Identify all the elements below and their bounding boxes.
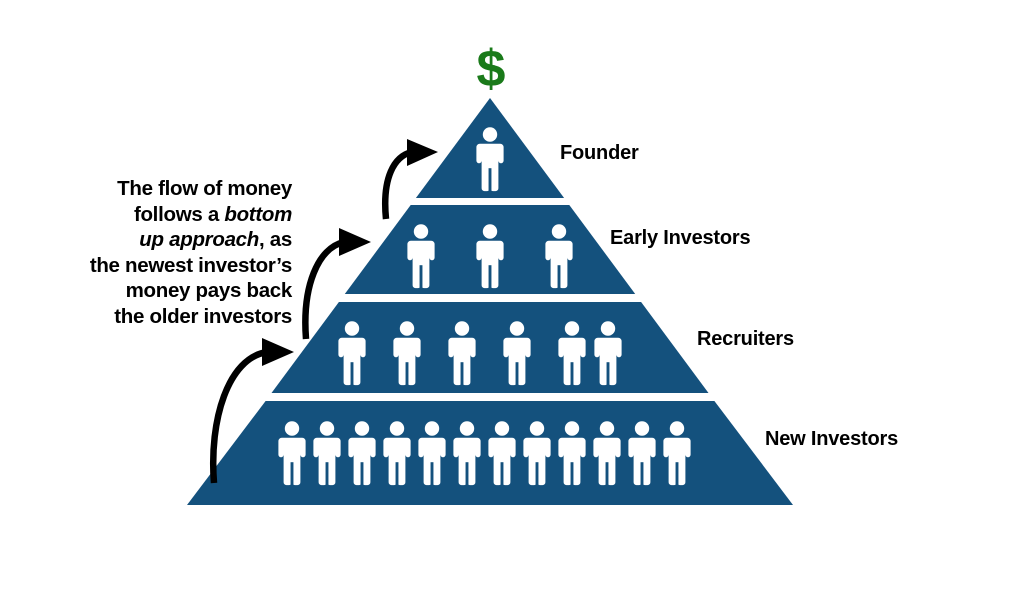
annotation-emphasis-bottom: bottom <box>224 203 292 226</box>
annotation-line-6: the older investors <box>114 305 292 328</box>
tier-label-early-investors: Early Investors <box>610 227 750 250</box>
annotation-line-1: The flow of money <box>117 177 292 200</box>
annotation-emphasis-up-approach: up approach <box>139 228 259 251</box>
pyramid-tier-recruiters <box>272 302 709 393</box>
tier-label-new-investors: New Investors <box>765 428 898 451</box>
annotation-line-4: the newest investor’s <box>90 254 292 277</box>
diagram-canvas: $ The flow of money follows a bottom up … <box>0 0 1024 599</box>
tier-shape-recruiters <box>272 302 709 393</box>
annotation-line-3-suffix: , as <box>259 228 292 251</box>
annotation-line-2-prefix: follows a <box>134 203 224 226</box>
flow-annotation-text: The flow of money follows a bottom up ap… <box>60 176 292 329</box>
annotation-line-5: money pays back <box>126 279 292 302</box>
dollar-sign-icon: $ <box>477 40 506 98</box>
tier-label-recruiters: Recruiters <box>697 328 794 351</box>
tier-label-founder: Founder <box>560 142 639 165</box>
pyramid-tier-new-investors <box>187 401 793 505</box>
pyramid-tier-founder <box>416 98 564 198</box>
